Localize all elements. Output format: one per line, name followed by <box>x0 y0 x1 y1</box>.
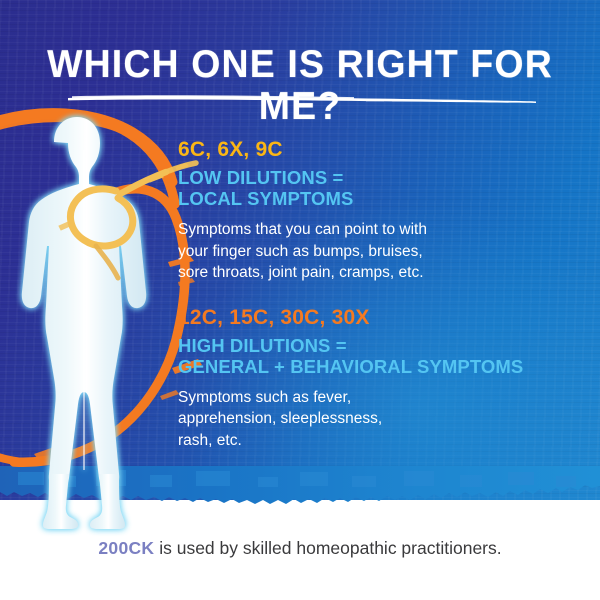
footer-dose-label: 200CK <box>98 538 154 558</box>
title-underline-brushstroke <box>66 94 538 106</box>
section-high-dilutions: 12C, 15C, 30C, 30X HIGH DILUTIONS = GENE… <box>178 306 578 452</box>
dose-heading-high: 12C, 15C, 30C, 30X <box>178 306 578 330</box>
subheading-low-line-2: LOCAL SYMPTOMS <box>178 188 578 209</box>
subheading-high: HIGH DILUTIONS = GENERAL + BEHAVIORAL SY… <box>178 335 578 377</box>
page-title: WHICH ONE IS RIGHT FOR ME? <box>12 44 588 128</box>
body-high-line-2: apprehension, sleeplessness, <box>178 408 578 430</box>
content-column: 6C, 6X, 9C LOW DILUTIONS = LOCAL SYMPTOM… <box>178 138 578 451</box>
body-high-line-1: Symptoms such as fever, <box>178 387 578 409</box>
body-high-line-3: rash, etc. <box>178 430 578 452</box>
body-low-line-1: Symptoms that you can point to with <box>178 219 578 241</box>
body-text-low: Symptoms that you can point to with your… <box>178 219 578 284</box>
body-text-high: Symptoms such as fever, apprehension, sl… <box>178 387 578 452</box>
subheading-low: LOW DILUTIONS = LOCAL SYMPTOMS <box>178 167 578 209</box>
dose-heading-low: 6C, 6X, 9C <box>178 138 578 162</box>
section-low-dilutions: 6C, 6X, 9C LOW DILUTIONS = LOCAL SYMPTOM… <box>178 138 578 284</box>
footer-caption-text: is used by skilled homeopathic practitio… <box>154 538 501 558</box>
infographic-root: WHICH ONE IS RIGHT FOR ME? <box>0 0 600 600</box>
subheading-high-line-1: HIGH DILUTIONS = <box>178 335 578 356</box>
footer-caption: 200CK is used by skilled homeopathic pra… <box>0 536 600 560</box>
subheading-high-line-2: GENERAL + BEHAVIORAL SYMPTOMS <box>178 356 578 377</box>
body-low-line-2: your finger such as bumps, bruises, <box>178 241 578 263</box>
body-low-line-3: sore throats, joint pain, cramps, etc. <box>178 262 578 284</box>
title-block: WHICH ONE IS RIGHT FOR ME? <box>0 44 600 128</box>
subheading-low-line-1: LOW DILUTIONS = <box>178 167 578 188</box>
